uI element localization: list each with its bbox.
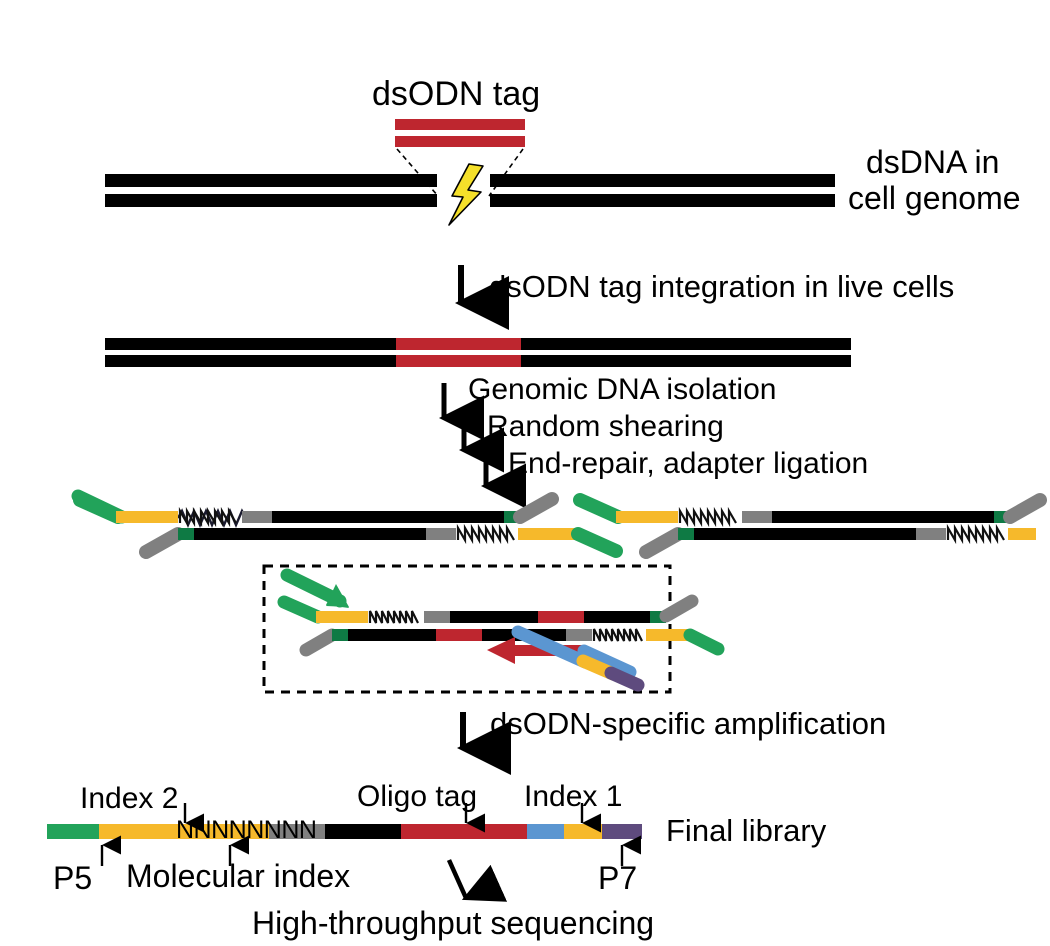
adapter-index-yellow-left-bottom [518,528,580,540]
molecular-index-nnn-left-bottom [458,528,514,540]
adapter-overhang-gray-right-top [1010,500,1040,517]
molecular-index-nnn-right-top [680,511,736,523]
dna-body-left-bottom [194,528,426,540]
sequencing-label: High-throughput sequencing [252,907,654,939]
molecular-index-nnn-left-top [180,511,236,523]
adapter-p5-green-tagged-top [284,602,318,617]
dna-body-tagged-top-left [450,611,538,623]
oligo-tag-label: Oligo tag [357,782,477,812]
arrow-sequencing [449,860,466,898]
index2-label: Index 2 [80,784,178,814]
dna-body-tagged-top-right [584,611,650,623]
sheared-fragment-right-clean [580,500,1040,552]
tagged-fragment [284,573,718,650]
final-library-segment-dsodn-oligo-tag [401,824,527,839]
adapter-index-yellow-right-top [616,511,678,523]
adapter-p5-green-right-top [580,500,618,517]
adapter-overhang-gray-left-top [520,499,552,517]
adapter-overhang-gray-tagged-top [666,601,692,616]
adapter-darkgreen-left-bottom [178,528,194,540]
sheared-fragment-left-clean [80,499,616,552]
adapter-darkgreen-tagged-bottom [332,629,348,641]
dna-body-right-bottom [694,528,916,540]
dsdna-genome-label-line2: cell genome [848,182,1021,214]
dna-body-right-top [772,511,994,523]
molecular-index-label: Molecular index [126,860,350,892]
dsodn-tag-label: dsODN tag [372,77,540,111]
step-endrepair-label: End-repair, adapter ligation [508,449,868,479]
final-library-nnn-label: NNNNNNNN [176,816,316,844]
adapter-gray-tagged-bottom [566,629,592,641]
adapter-gray-left-bottom [426,528,456,540]
adapter-p5-green-left-top [80,500,118,517]
adapter-index-yellow-tagged-bottom [646,629,690,641]
figure-canvas: NNNNNNNN dsODN tag dsDNA in cell genome … [0,0,1050,946]
adapter-p5-green-tagged-bottom [690,635,718,649]
dsodn-tag-tagged-top [538,611,584,623]
step-amplification-label: dsODN-specific amplification [490,708,886,739]
dsodn-tag-tagged-bottom [436,629,482,641]
dsdna-genome-label-line1: dsDNA in [866,146,999,178]
dna-body-tagged-bottom-left [348,629,436,641]
adapter-index-yellow-left-top [116,511,178,523]
dna-body-left-top [272,511,504,523]
p5-label: P5 [53,862,92,894]
index1-label: Index 1 [524,782,622,812]
step-integration-label: dsODN tag integration in live cells [489,271,954,302]
adapter-gray-right-bottom [916,528,946,540]
molecular-index-nnn-tagged-bottom [594,629,642,641]
adapter-overhang-gray-right-bottom [646,534,678,552]
adapter-darkgreen-right-bottom [678,528,694,540]
final-library-bar [47,824,642,839]
final-library-segment-p7 [602,824,642,839]
molecular-index-nnn-tagged-top [370,611,418,623]
adapter-overhang-gray-tagged-bottom [306,635,332,650]
final-library-label: Final library [666,815,826,846]
final-library-segment-p5 [47,824,99,839]
adapter-gray-left-top [242,511,272,523]
step-isolation-label: Genomic DNA isolation [468,375,776,405]
molecular-index-nnn-right-bottom [948,528,1004,540]
final-library-segment-index-1 [564,824,602,839]
adapter-overhang-gray-left-bottom [146,534,178,552]
p7-label: P7 [598,862,637,894]
final-library-segment-primer-blue [527,824,564,839]
step-shearing-label: Random shearing [487,412,724,442]
adapter-gray-right-top [742,511,772,523]
final-library-segment-genomic-dna [325,824,401,839]
adapter-index-yellow-right-bottom [1008,528,1036,540]
adapter-index-yellow-tagged-top [316,611,368,623]
adapter-p5-green-left-bottom [578,534,616,551]
adapter-gray-tagged-top [424,611,450,623]
